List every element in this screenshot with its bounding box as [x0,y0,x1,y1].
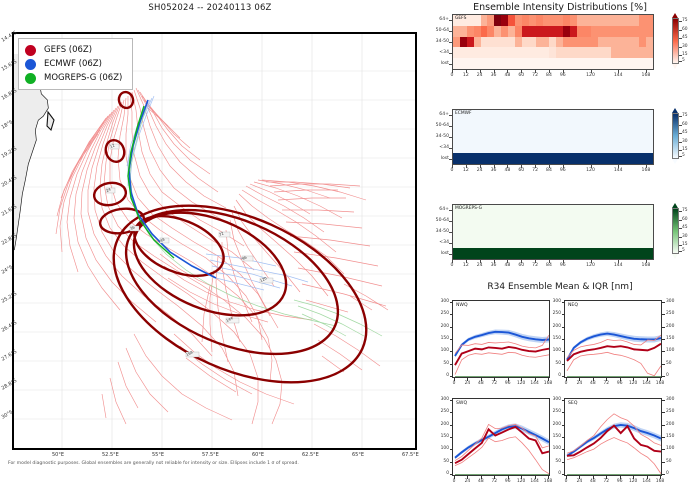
heatmap-cell [625,227,632,238]
heatmap-cell [515,205,522,216]
r34-y-tick-label: 50 [432,361,449,366]
heatmap-cell [625,110,632,121]
heatmap-cell [549,15,556,26]
r34-x-tick [633,476,634,479]
colorbar-tick [679,30,682,31]
heatmap-cell [598,132,605,143]
r34-y-tick-label: 300 [544,397,561,402]
heatmap-cell [515,110,522,121]
heatmap-x-tick-label: 120 [583,73,599,78]
heatmap-cell [584,216,591,227]
heatmap-cell [529,26,536,37]
r34-y-tick-label: 300 [544,299,561,304]
heatmap-row [453,58,653,69]
heatmap-cell [543,248,550,259]
heatmap-cell [474,47,481,58]
heatmap-cell [632,248,639,259]
r34-y-tick-label-right: 300 [666,397,674,402]
heatmap-x-tick [591,165,592,168]
heatmap-cell [467,153,474,164]
intensity-heatmap-gefs[interactable]: GEFS [452,14,654,70]
colorbar-tick [679,125,682,126]
heatmap-cell [549,132,556,143]
heatmap-cell [611,47,618,58]
r34-y-tick-label-right: 0 [666,471,669,476]
heatmap-x-tick [646,165,647,168]
heatmap-y-tick-label: 34-50 [424,39,449,44]
colorbar-tick [679,61,682,62]
heatmap-cell [481,142,488,153]
heatmap-cell [632,216,639,227]
heatmap-y-tick [449,232,452,233]
r34-x-tick-label: 72 [487,381,501,386]
heatmap-y-tick [449,64,452,65]
ecmwf-iqr-band [455,329,549,357]
r34-y-tick-label-right: 200 [666,324,674,329]
r34-x-tick [606,476,607,479]
heatmap-cell [556,26,563,37]
heatmap-cell [639,216,646,227]
heatmap-y-tick-label: lost [424,61,449,66]
heatmap-cell [460,26,467,37]
heatmap-cell [598,37,605,48]
heatmap-cell [536,110,543,121]
heatmap-cell [611,227,618,238]
cyclone-track-map[interactable]: 12 24 36 48 72 96 120 144 168 [12,32,417,450]
heatmap-cell [536,37,543,48]
heatmap-cell [501,15,508,26]
heatmap-x-tick-label: 144 [610,168,626,173]
colorbar-tick-label: 30 [682,234,688,239]
heatmap-cell [639,37,646,48]
legend-label-ecmwf: ECMWF (06Z) [44,59,102,69]
colorbar-tick-label: 45 [682,130,688,135]
r34-chart-nwq[interactable]: NWQ [452,300,550,378]
heatmap-cell [508,121,515,132]
heatmap-cell [611,121,618,132]
colorbar-tick [679,133,682,134]
heatmap-cell [487,121,494,132]
heatmap-cell [639,237,646,248]
heatmap-cell [515,26,522,37]
heatmap-cell [611,58,618,69]
heatmap-cell [494,142,501,153]
intensity-heatmap-ecmwf[interactable]: ECMWF [452,109,654,165]
heatmap-row [453,37,653,48]
heatmap-x-tick [549,260,550,263]
heatmap-x-tick [480,165,481,168]
heatmap-cell [632,110,639,121]
heatmap-cell [591,142,598,153]
heatmap-cell [543,216,550,227]
heatmap-y-tick [449,126,452,127]
heatmap-cell [494,121,501,132]
heatmap-cell [611,26,618,37]
heatmap-cell [501,205,508,216]
heatmap-cell [549,26,556,37]
heatmap-cell [570,237,577,248]
r34-x-tick [508,476,509,479]
heatmap-cell [570,26,577,37]
heatmap-cell [460,237,467,248]
heatmap-cell [481,227,488,238]
heatmap-y-tick-label: <34 [424,145,449,150]
heatmap-cell [598,142,605,153]
heatmap-x-tick [646,260,647,263]
heatmap-cell [460,216,467,227]
r34-x-tick [633,378,634,381]
r34-series-gefs-mean [567,344,661,361]
heatmap-cell [570,110,577,121]
r34-x-tick-label: 144 [640,479,654,484]
heatmap-cell [467,26,474,37]
heatmap-y-tick [449,210,452,211]
heatmap-cell [515,248,522,259]
heatmap-cell [632,153,639,164]
heatmap-cell [515,37,522,48]
heatmap-x-tick [521,70,522,73]
heatmap-cell [536,248,543,259]
r34-y-tick [450,462,453,463]
heatmap-cell [577,26,584,37]
heatmap-cell [632,132,639,143]
r34-y-tick [562,449,565,450]
heatmap-cell [522,248,529,259]
heatmap-cell [474,142,481,153]
r34-y-tick-right [662,302,665,303]
heatmap-cell [501,132,508,143]
heatmap-cell [639,15,646,26]
r34-y-tick-right [662,412,665,413]
heatmap-cell [646,58,653,69]
r34-y-tick [562,412,565,413]
heatmap-cell [522,26,529,37]
heatmap-row [453,15,653,26]
heatmap-cell [570,205,577,216]
heatmap-cell [563,37,570,48]
r34-x-tick [481,378,482,381]
heatmap-cell [625,153,632,164]
heatmap-cell [570,153,577,164]
heatmap-cell [549,205,556,216]
heatmap-cell [563,110,570,121]
r34-y-tick-right [662,462,665,463]
heatmap-x-tick [563,260,564,263]
heatmap-cell [487,26,494,37]
heatmap-x-tick [618,260,619,263]
heatmap-cell [515,132,522,143]
heatmap-cell [570,47,577,58]
heatmap-cell [467,132,474,143]
heatmap-y-tick [449,221,452,222]
r34-x-tick [606,378,607,381]
heatmap-cell [467,142,474,153]
heatmap-x-tick [618,70,619,73]
heatmap-x-tick-label: 168 [638,73,654,78]
heatmap-cell [584,121,591,132]
heatmap-y-tick [449,115,452,116]
heatmap-cell [529,205,536,216]
heatmap-cell [453,227,460,238]
heatmap-cell [632,37,639,48]
heatmap-cell [515,15,522,26]
heatmap-cell [605,15,612,26]
r34-y-tick [562,400,565,401]
heatmap-cell [556,237,563,248]
heatmap-cell [543,205,550,216]
r34-series-gefs-mean [455,347,549,365]
r34-y-tick-label-right: 150 [666,434,674,439]
r34-quadrant-tag: SEQ [568,401,577,406]
heatmap-x-tick [618,165,619,168]
r34-x-tick [593,378,594,381]
heatmap-cell [618,15,625,26]
r34-y-tick-right [662,314,665,315]
heatmap-cell [639,26,646,37]
heatmap-cell [584,227,591,238]
intensity-heatmap-mogreps-g[interactable]: MOGREPS-G [452,204,654,260]
heatmap-cell [522,47,529,58]
heatmap-cell [577,58,584,69]
heatmap-row [453,26,653,37]
r34-chart-seq[interactable]: SEQ [564,398,662,476]
heatmap-row [453,110,653,121]
map-plot-area[interactable]: 12 24 36 48 72 96 120 144 168 [14,34,415,448]
r34-y-tick [450,474,453,475]
heatmap-cell [577,110,584,121]
heatmap-cell [508,132,515,143]
heatmap-cell [529,227,536,238]
heatmap-cell [584,153,591,164]
r34-y-tick-label: 250 [544,409,561,414]
heatmap-cell [549,248,556,259]
heatmap-cell [563,26,570,37]
heatmap-cell [508,227,515,238]
heatmap-cell [618,237,625,248]
r34-y-tick-right [662,474,665,475]
r34-y-tick-right [662,327,665,328]
heatmap-cell [536,153,543,164]
heatmap-cell [529,110,536,121]
heatmap-cell [536,26,543,37]
heatmap-cell [522,15,529,26]
heatmap-cell [508,205,515,216]
heatmap-cell [543,47,550,58]
heatmap-row [453,47,653,58]
r34-y-tick-label: 150 [544,336,561,341]
heatmap-cell [618,26,625,37]
colorbar-max-arrow-icon [672,13,678,18]
heatmap-cell [529,142,536,153]
heatmap-cell [549,237,556,248]
heatmap-cell [591,47,598,58]
heatmap-cell [467,227,474,238]
heatmap-cell [611,110,618,121]
heatmap-cell [611,142,618,153]
r34-y-tick-label-right: 100 [666,348,674,353]
heatmap-cell [639,142,646,153]
heatmap-cell [487,15,494,26]
heatmap-cell [460,121,467,132]
heatmap-x-tick [563,70,564,73]
heatmap-cell [474,237,481,248]
legend-item-mogreps: MOGREPS-G (06Z) [25,71,122,85]
heatmap-cell [577,248,584,259]
heatmap-cell [543,15,550,26]
heatmap-x-tick-label: 168 [638,168,654,173]
heatmap-cell [646,237,653,248]
colorbar-max-arrow-icon [672,108,678,113]
heatmap-cell [646,227,653,238]
r34-y-tick [562,339,565,340]
r34-x-tick-label: 0 [559,381,573,386]
heatmap-cell [618,205,625,216]
heatmap-cell [639,132,646,143]
heatmap-cell [481,37,488,48]
heatmap-cell [625,47,632,58]
heatmap-x-tick [494,260,495,263]
r34-x-tick-label: 144 [528,381,542,386]
heatmap-cell [563,47,570,58]
legend-label-mogreps: MOGREPS-G (06Z) [44,73,122,83]
heatmap-y-tick [449,137,452,138]
heatmap-cell [536,237,543,248]
heatmap-cell [632,26,639,37]
heatmap-x-tick [494,165,495,168]
heatmap-cell [605,153,612,164]
heatmap-cell [501,47,508,58]
r34-y-tick-label: 0 [544,373,561,378]
r34-x-tick [579,476,580,479]
heatmap-cell [508,58,515,69]
heatmap-cell [625,37,632,48]
heatmap-cell [494,248,501,259]
heatmap-cell [598,58,605,69]
heatmap-cell [591,121,598,132]
heatmap-cell [556,132,563,143]
heatmap-cell [536,205,543,216]
heatmap-cell [605,47,612,58]
heatmap-cell [639,47,646,58]
heatmap-cell [494,237,501,248]
r34-y-tick-right [662,425,665,426]
heatmap-x-tick [507,260,508,263]
colorbar-mogreps-g [672,208,679,254]
r34-y-tick [450,351,453,352]
heatmap-cell [605,227,612,238]
colorbar-tick [679,228,682,229]
heatmap-cell [646,26,653,37]
heatmap-cell [481,248,488,259]
heatmap-cell [591,37,598,48]
heatmap-x-tick [480,260,481,263]
heatmap-cell [515,121,522,132]
colorbar-max-arrow-icon [672,203,678,208]
r34-quadrant-tag: SWQ [456,401,467,406]
heatmap-cell [460,37,467,48]
colorbar-tick-label: 5 [682,153,685,158]
heatmap-cell [646,205,653,216]
r34-chart-swq[interactable]: SWQ [452,398,550,476]
r34-chart-neq[interactable]: NEQ [564,300,662,378]
r34-series-gefs-iqr-lower [455,437,549,474]
heatmap-cell [494,132,501,143]
graticule [14,34,415,448]
heatmap-cell [646,15,653,26]
heatmap-cell [508,110,515,121]
heatmap-cell [605,216,612,227]
heatmap-cell [584,37,591,48]
colorbar-tick [679,47,682,48]
heatmap-cell [577,205,584,216]
heatmap-cell [536,227,543,238]
heatmap-cell [508,47,515,58]
heatmap-cell [501,153,508,164]
heatmap-x-tick [466,70,467,73]
heatmap-cell [467,37,474,48]
heatmap-cell [508,142,515,153]
heatmap-cell [591,26,598,37]
r34-y-tick-label: 300 [432,397,449,402]
heatmap-x-tick [549,165,550,168]
heatmap-cell [529,248,536,259]
heatmap-cell [494,26,501,37]
heatmap-y-tick-label: lost [424,251,449,256]
r34-x-tick-label: 24 [572,479,586,484]
heatmap-cell [453,37,460,48]
r34-quadrant-tag: NEQ [568,303,578,308]
heatmap-cell [646,216,653,227]
colorbar-tick [679,245,682,246]
heatmap-cell [460,248,467,259]
r34-y-tick-right [662,376,665,377]
heatmap-cell [453,216,460,227]
r34-y-tick [450,412,453,413]
heatmap-cell [501,142,508,153]
heatmap-cell [591,58,598,69]
colorbar-gefs [672,18,679,64]
colorbar-tick-label: 45 [682,35,688,40]
heatmap-cell [494,58,501,69]
heatmap-cell [577,121,584,132]
heatmap-cell [591,237,598,248]
heatmap-cell [515,58,522,69]
r34-x-tick [593,476,594,479]
heatmap-cell [549,110,556,121]
heatmap-cell [563,248,570,259]
r34-y-tick [450,339,453,340]
heatmap-cell [570,132,577,143]
heatmap-cell [515,47,522,58]
r34-y-tick-label: 100 [432,348,449,353]
heatmap-cell [577,132,584,143]
heatmap-x-tick [646,70,647,73]
heatmap-cell [481,15,488,26]
heatmap-cell [563,15,570,26]
heatmap-cell [543,153,550,164]
r34-chart-graphics [453,399,550,476]
heatmap-cell [474,132,481,143]
heatmap-cell [584,15,591,26]
heatmap-cell [646,37,653,48]
heatmap-cell [508,15,515,26]
heatmap-cell [577,47,584,58]
heatmap-cell [508,37,515,48]
r34-y-tick-right [662,400,665,401]
heatmap-cell [508,237,515,248]
heatmap-cell [522,216,529,227]
r34-x-tick [508,378,509,381]
